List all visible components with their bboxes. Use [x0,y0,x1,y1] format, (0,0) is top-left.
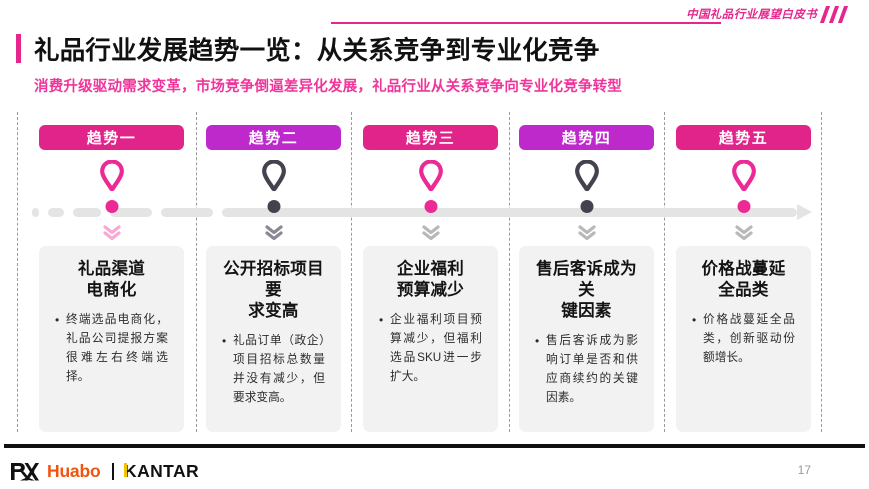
trend-badge-5: 趋势五 [676,125,811,150]
bullet-marker: • [379,311,390,387]
bullet-marker: • [55,311,66,387]
trend-column-2: 趋势二 公开招标项目要求变高 • 礼品订单（政企）项目招标总数量并没有减少，但要… [206,112,341,434]
bullet-marker: • [535,332,546,408]
double-chevron-down-icon [422,224,440,240]
map-pin-icon [100,160,124,192]
page-number: 17 [798,463,811,477]
footer-branding: Huabo KANTAR [10,458,199,484]
column-divider [196,112,197,432]
column-divider [509,112,510,432]
page-title-row: 礼品行业发展趋势一览：从关系竞争到专业化竞争 [16,30,599,66]
page-title: 礼品行业发展趋势一览：从关系竞争到专业化竞争 [34,30,599,67]
footer-rule [4,444,865,448]
title-accent-bar [16,34,21,63]
trend-card-body: • 售后客诉成为影响订单是否和供应商续约的关键因素。 [531,332,642,408]
trend-card-body: • 终端选品电商化，礼品公司提报方案很难左右终端选择。 [51,311,172,387]
column-divider [821,112,822,432]
trend-card-text: 企业福利项目预算减少，但福利选品SKU进一步扩大。 [390,311,482,387]
trend-card-2: 公开招标项目要求变高 • 礼品订单（政企）项目招标总数量并没有减少，但要求变高。 [206,246,341,432]
trend-badge-1: 趋势一 [39,125,184,150]
trend-card-body: • 礼品订单（政企）项目招标总数量并没有减少，但要求变高。 [218,332,329,408]
trend-card-3: 企业福利预算减少 • 企业福利项目预算减少，但福利选品SKU进一步扩大。 [363,246,498,432]
trend-badge-3: 趋势三 [363,125,498,150]
double-chevron-down-icon [103,224,121,240]
trend-card-title: 公开招标项目要求变高 [218,259,329,322]
trend-card-text: 售后客诉成为影响订单是否和供应商续约的关键因素。 [546,332,638,408]
trend-card-title: 价格战蔓延全品类 [688,259,799,301]
footer-partner: KANTAR [124,461,199,482]
trend-card-title: 售后客诉成为关键因素 [531,259,642,322]
trend-column-5: 趋势五 价格战蔓延全品类 • 价格战蔓延全品类，创新驱动份额增长。 [676,112,811,434]
trend-column-4: 趋势四 售后客诉成为关键因素 • 售后客诉成为影响订单是否和供应商续约的关键因素… [519,112,654,434]
map-pin-icon [419,160,443,192]
trends-board: 趋势一 礼品渠道电商化 • 终端选品电商化，礼品公司提报方案很难左右终端选择。 … [0,112,869,434]
trend-card-body: • 企业福利项目预算减少，但福利选品SKU进一步扩大。 [375,311,486,387]
bullet-marker: • [692,311,703,368]
trend-card-body: • 价格战蔓延全品类，创新驱动份额增长。 [688,311,799,368]
trend-badge-2: 趋势二 [206,125,341,150]
trend-card-title: 礼品渠道电商化 [51,259,172,301]
double-chevron-down-icon [578,224,596,240]
eyebrow-rule [331,22,721,24]
column-divider [664,112,665,432]
trend-badge-4: 趋势四 [519,125,654,150]
eyebrow-band: 中国礼品行业展望白皮书 [0,0,869,26]
trend-card-text: 终端选品电商化，礼品公司提报方案很难左右终端选择。 [66,311,168,387]
bullet-marker: • [222,332,233,408]
trend-column-3: 趋势三 企业福利预算减少 • 企业福利项目预算减少，但福利选品SKU进一步扩大。 [363,112,498,434]
trend-column-1: 趋势一 礼品渠道电商化 • 终端选品电商化，礼品公司提报方案很难左右终端选择。 [39,112,184,434]
double-chevron-down-icon [735,224,753,240]
trend-card-text: 价格战蔓延全品类，创新驱动份额增长。 [703,311,795,368]
timeline-node [737,200,750,213]
timeline-node [267,200,280,213]
timeline-node [580,200,593,213]
page-subtitle: 消费升级驱动需求变革，市场竞争倒逼差异化发展，礼品行业从关系竞争向专业化竞争转型 [34,75,622,96]
kantar-accent [124,463,127,477]
eyebrow-label: 中国礼品行业展望白皮书 [686,6,817,22]
column-divider [351,112,352,432]
trend-card-title: 企业福利预算减少 [375,259,486,301]
trend-card-5: 价格战蔓延全品类 • 价格战蔓延全品类，创新驱动份额增长。 [676,246,811,432]
column-divider [17,112,18,432]
footer-partner-label: KANTAR [124,461,199,481]
map-pin-icon [575,160,599,192]
map-pin-icon [732,160,756,192]
timeline-node [105,200,118,213]
rx-logo-icon [10,462,40,481]
footer-brand: Huabo [47,461,100,482]
map-pin-icon [262,160,286,192]
trend-card-4: 售后客诉成为关键因素 • 售后客诉成为影响订单是否和供应商续约的关键因素。 [519,246,654,432]
trend-card-1: 礼品渠道电商化 • 终端选品电商化，礼品公司提报方案很难左右终端选择。 [39,246,184,432]
trend-card-text: 礼品订单（政企）项目招标总数量并没有减少，但要求变高。 [233,332,325,408]
triple-slash-icon [821,6,857,23]
footer-divider [112,463,114,480]
double-chevron-down-icon [265,224,283,240]
timeline-node [424,200,437,213]
